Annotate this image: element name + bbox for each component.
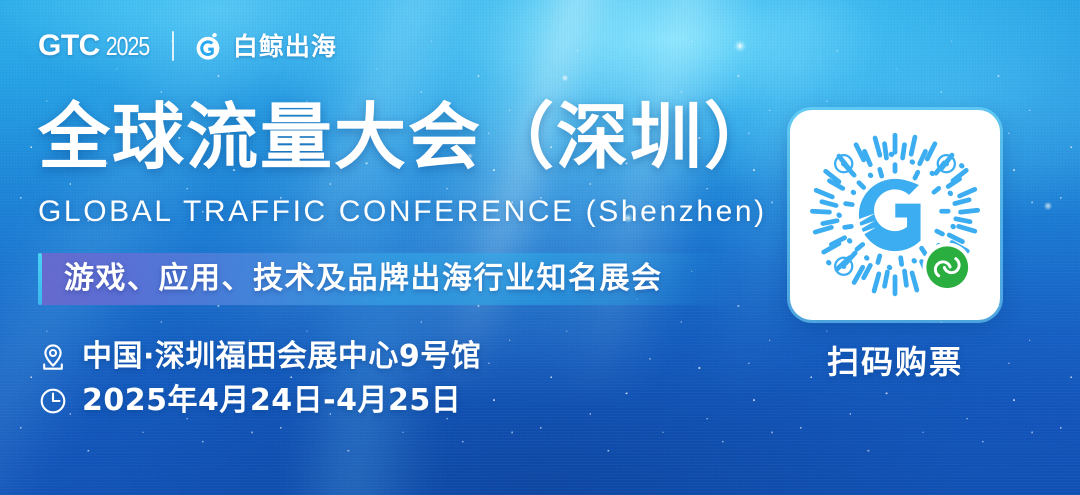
event-location-row: 中国·深圳福田会展中心9号馆 (38, 342, 481, 372)
gtc-logo: GTC 2025 (38, 31, 154, 61)
event-location-text: 中国·深圳福田会展中心9号馆 (82, 342, 481, 372)
tagline-banner: 游戏、应用、技术及品牌出海行业知名展会 (38, 253, 738, 305)
qr-code-card[interactable] (790, 110, 1000, 320)
location-pin-icon (38, 342, 68, 372)
tagline-left-accent-bar (38, 253, 42, 305)
wechat-miniprogram-badge (923, 243, 972, 292)
baijing-logo-text: 白鲸出海 (233, 34, 337, 59)
scan-to-buy-tickets-label: 扫码购票 (790, 346, 1000, 378)
event-info-list: 中国·深圳福田会展中心9号馆 2025年4月24日-4月25日 (38, 342, 481, 416)
gtc-logo-text: GTC (38, 31, 100, 61)
logo-divider (172, 31, 174, 61)
qr-code-image[interactable] (800, 120, 990, 310)
qr-center-logo (858, 179, 920, 251)
tagline-text: 游戏、应用、技术及品牌出海行业知名展会 (64, 264, 663, 294)
page-title: 全球流量大会（深圳） (38, 101, 778, 173)
event-date-text: 2025年4月24日-4月25日 (82, 386, 461, 416)
gtc-logo-year: 2025 (106, 33, 149, 59)
baijing-logo[interactable]: 白鲸出海 (192, 30, 337, 62)
page-title-english: GLOBAL TRAFFIC CONFERENCE (Shenzhen) (38, 197, 767, 227)
gtc-2025-event-banner: GTC 2025 白鲸出海 全球流量大会（深圳） GLOBAL TRAFFIC … (0, 0, 1080, 495)
event-date-row: 2025年4月24日-4月25日 (38, 386, 481, 416)
brand-logo-row[interactable]: GTC 2025 白鲸出海 (38, 30, 337, 62)
whale-g-logo-icon (192, 30, 224, 62)
clock-icon (38, 386, 68, 416)
